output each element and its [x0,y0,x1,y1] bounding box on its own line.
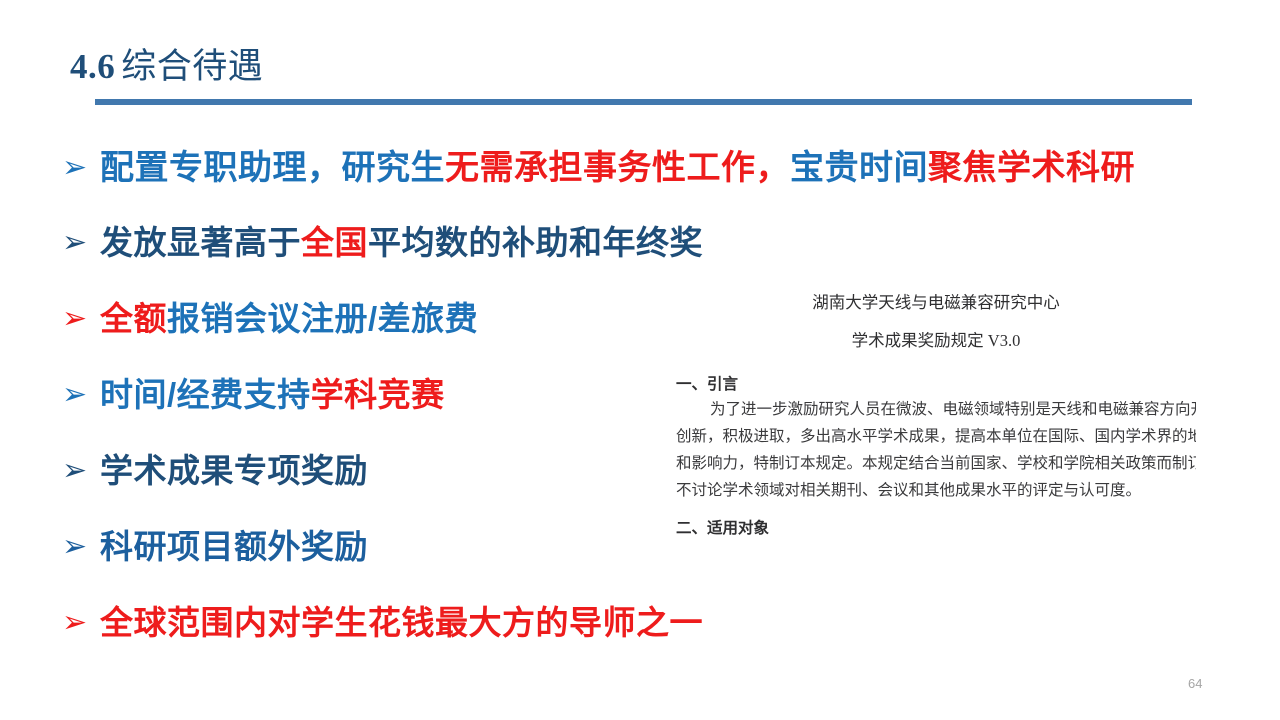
bullet-text-segment: 学术成果专项奖励 [100,452,368,489]
bullet-text-segment: 报销会议注册/差旅费 [167,300,478,337]
document-title-line-1: 湖南大学天线与电磁兼容研究中心 [676,288,1196,318]
bullet-text-segment: 科研项目额外奖励 [100,528,368,565]
bullet-text-segment: 配置专职助理，研究生 [100,149,445,187]
title-divider-rule [95,99,1192,105]
document-paragraph-line: 不讨论学术领域对相关期刊、会议和其他成果水平的评定与认可度。 [676,477,1196,504]
page-title-number: 4.6 [70,47,115,86]
bullet-text: 学术成果专项奖励 [100,444,368,492]
bullet-arrow-icon: ➢ [62,228,100,258]
bullet-text-segment: 时间/经费支持 [100,376,311,413]
document-title-line-2: 学术成果奖励规定 V3.0 [676,326,1196,356]
document-paragraph-line: 和影响力，特制订本规定。本规定结合当前国家、学校和学院相关政策而制订， [676,450,1196,477]
bullet-text-segment: 全额 [100,300,167,337]
bullet-text-segment: 聚焦学术科研 [928,149,1135,187]
bullet-arrow-icon: ➢ [62,153,100,183]
bullet-text-segment: 全球范围内对学生花钱最大方的导师之一 [100,604,703,641]
document-screenshot: 湖南大学天线与电磁兼容研究中心 学术成果奖励规定 V3.0 一、引言 为了进一步… [676,288,1196,598]
bullet-item: ➢配置专职助理，研究生无需承担事务性工作，宝贵时间聚焦学术科研 [62,140,1242,216]
bullet-item: ➢全球范围内对学生花钱最大方的导师之一 [62,596,1242,672]
bullet-text-segment: 无需承担事务性工作， [445,149,790,187]
page-title-text: 综合待遇 [121,47,263,86]
bullet-arrow-icon: ➢ [62,380,100,410]
bullet-arrow-icon: ➢ [62,608,100,638]
bullet-arrow-icon: ➢ [62,304,100,334]
document-section-2-heading: 二、适用对象 [676,516,1196,538]
bullet-text-segment: 全国 [301,224,368,261]
document-paragraph: 为了进一步激励研究人员在微波、电磁领域特别是天线和电磁兼容方向开拓创新，积极进取… [676,396,1196,504]
bullet-arrow-icon: ➢ [62,532,100,562]
bullet-text: 全球范围内对学生花钱最大方的导师之一 [100,596,703,644]
bullet-text: 科研项目额外奖励 [100,520,368,568]
slide-page-number: 64 [1188,676,1202,691]
bullet-text: 时间/经费支持学科竞赛 [100,368,445,416]
bullet-text-segment: 学科竞赛 [311,376,445,413]
bullet-text-segment: 宝贵时间 [790,149,928,187]
bullet-text-segment: 发放显著高于 [100,224,301,261]
document-paragraph-line: 创新，积极进取，多出高水平学术成果，提高本单位在国际、国内学术界的地位 [676,423,1196,450]
bullet-item: ➢发放显著高于全国平均数的补助和年终奖 [62,216,1242,292]
page-title: 4.6综合待遇 [70,38,263,89]
bullet-arrow-icon: ➢ [62,456,100,486]
bullet-text-segment: 平均数的补助和年终奖 [368,224,703,261]
document-section-1-heading: 一、引言 [676,372,1196,394]
bullet-text: 全额报销会议注册/差旅费 [100,292,478,340]
bullet-text: 发放显著高于全国平均数的补助和年终奖 [100,216,703,264]
document-paragraph-line: 为了进一步激励研究人员在微波、电磁领域特别是天线和电磁兼容方向开拓 [676,396,1196,423]
bullet-text: 配置专职助理，研究生无需承担事务性工作，宝贵时间聚焦学术科研 [100,140,1135,189]
